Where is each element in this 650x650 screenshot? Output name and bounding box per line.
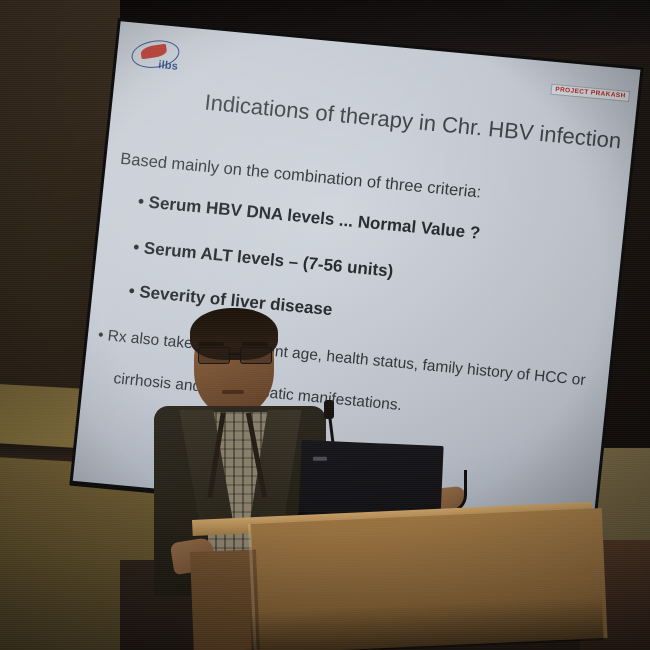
eyeglasses-icon (196, 347, 274, 362)
slide-title: Indications of therapy in Chr. HBV infec… (203, 90, 624, 155)
project-prakash-badge: PROJECT PRAKASH (551, 84, 630, 102)
glasses-bridge (228, 353, 240, 355)
eyebrow-left (198, 342, 224, 346)
laptop-cable (430, 470, 467, 513)
lens-right (240, 347, 272, 364)
presentation-photo: ilbs PROJECT PRAKASH Indications of ther… (0, 0, 650, 650)
laptop-logo-icon (313, 457, 327, 461)
eyebrow-right (242, 342, 268, 346)
slide-bullet-2: • Serum ALT levels – (7-56 units) (132, 237, 394, 281)
ilbs-logo-icon: ilbs (129, 38, 186, 77)
lens-left (198, 347, 230, 364)
slide-bullet-1: • Serum HBV DNA levels ... Normal Value … (137, 192, 481, 244)
mouth (222, 390, 244, 394)
logo-text: ilbs (158, 59, 179, 73)
